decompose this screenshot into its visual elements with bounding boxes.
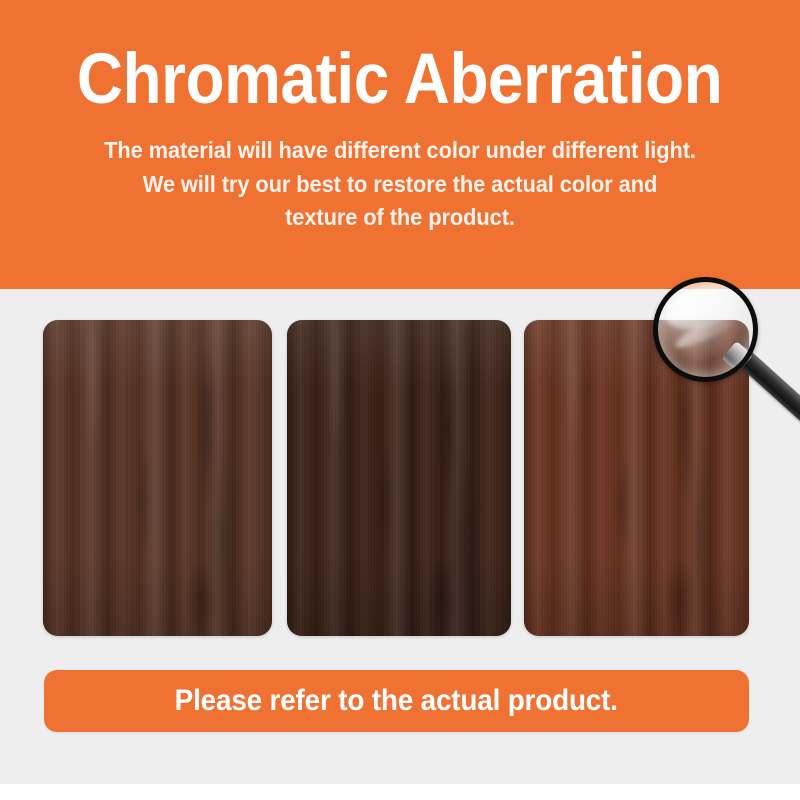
bottom-white-strip — [0, 784, 800, 800]
page-title: Chromatic Aberration — [77, 44, 722, 115]
disclaimer-banner-text: Please refer to the actual product. — [175, 684, 618, 718]
header-subtitle: The material will have different color u… — [65, 134, 735, 235]
header-content: Chromatic Aberration The material will h… — [0, 0, 800, 289]
header-band: Chromatic Aberration The material will h… — [0, 0, 800, 289]
wood-swatch-medium-brown[interactable] — [43, 320, 272, 636]
wood-shading — [43, 320, 272, 636]
wood-texture — [287, 320, 511, 636]
wood-swatch-dark-espresso[interactable] — [287, 320, 511, 636]
wood-swatch-group — [43, 320, 749, 636]
subtitle-line-3: texture of the product. — [65, 201, 735, 235]
wood-shading — [287, 320, 511, 636]
subtitle-line-2: We will try our best to restore the actu… — [65, 168, 735, 202]
disclaimer-banner: Please refer to the actual product. — [44, 670, 749, 732]
subtitle-line-1: The material will have different color u… — [65, 134, 735, 168]
wood-shading — [524, 320, 749, 636]
chromatic-aberration-infographic: Chromatic Aberration The material will h… — [0, 0, 800, 800]
wood-swatch-warm-mahogany[interactable] — [524, 320, 749, 636]
wood-texture — [43, 320, 272, 636]
wood-texture — [524, 320, 749, 636]
